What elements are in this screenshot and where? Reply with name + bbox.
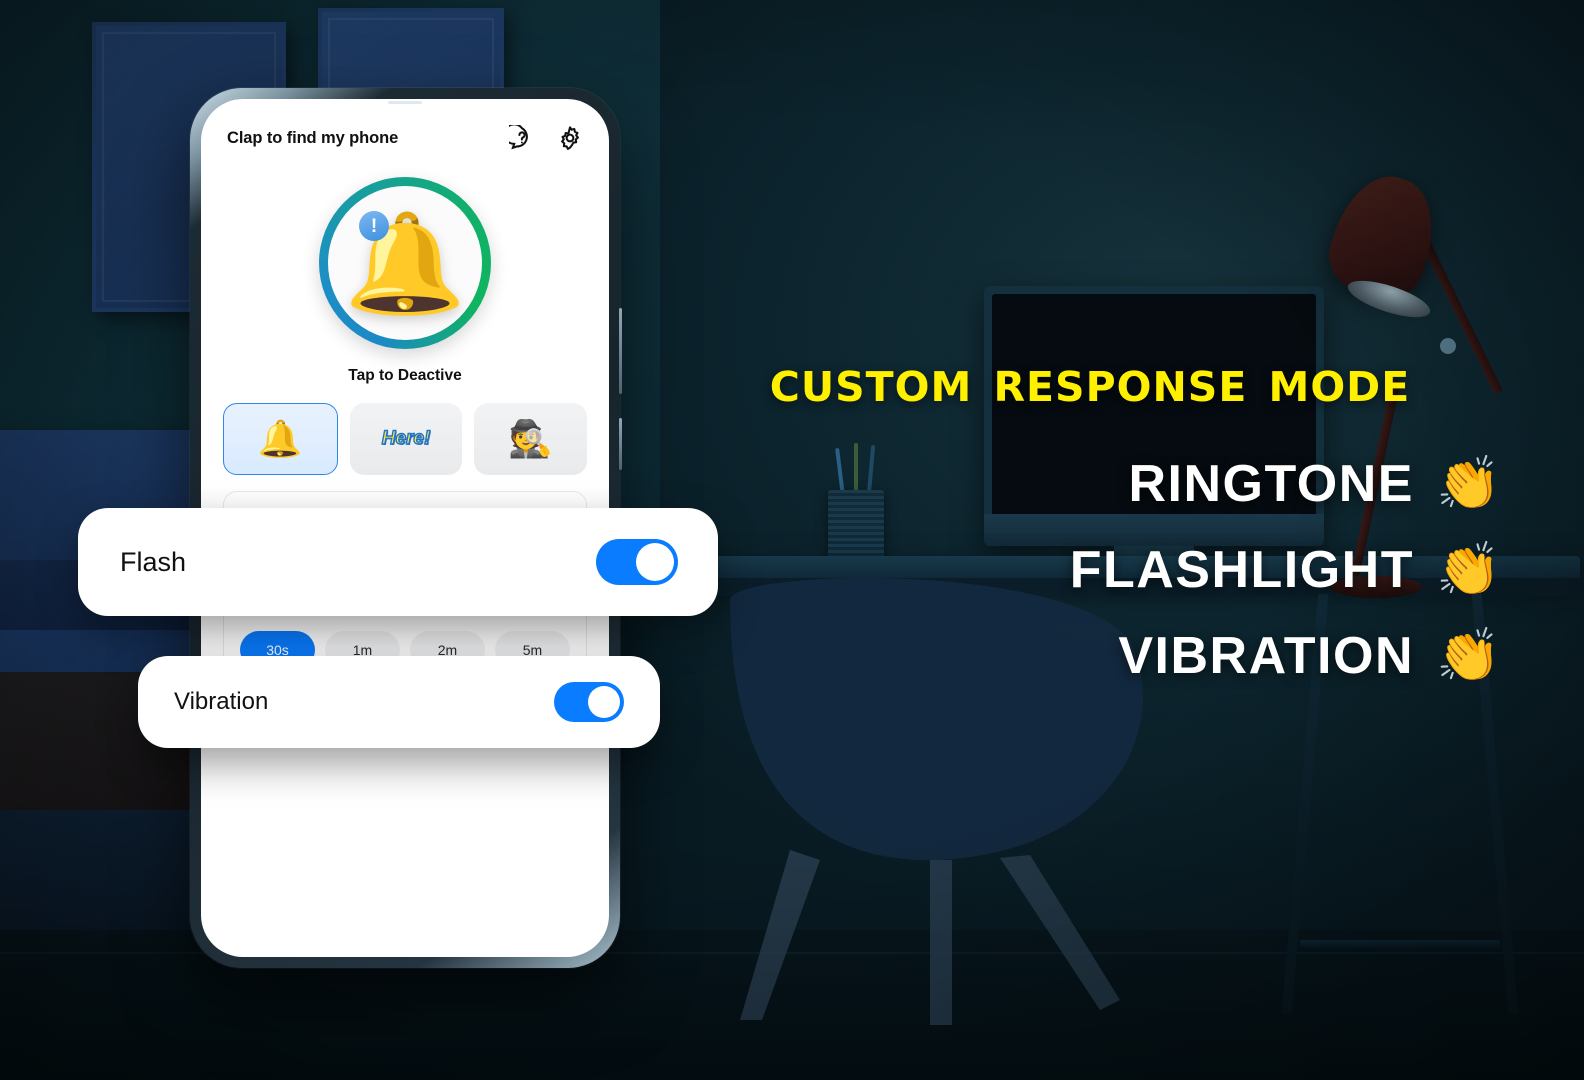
promo-feature-label: VIBRATION	[1118, 626, 1414, 686]
promo-copy: Custom Response Mode RINGTONE 👏 FLASHLIG…	[680, 352, 1500, 712]
floating-card-flash[interactable]: Flash	[78, 508, 718, 616]
alert-badge-icon: !	[359, 211, 389, 241]
app-title: Clap to find my phone	[227, 129, 398, 148]
app-header: Clap to find my phone	[201, 99, 609, 151]
here-mode-label: Here!	[382, 428, 431, 450]
gear-icon[interactable]	[557, 125, 583, 151]
help-icon[interactable]	[509, 125, 535, 151]
clapping-hands-icon: 👏	[1436, 458, 1500, 510]
mode-card-detective[interactable]: 🕵️	[474, 403, 587, 475]
response-mode-row: 🔔 Here! 🕵️	[201, 385, 609, 475]
promo-scene: Clap to find my phone 🔔	[0, 0, 1584, 1080]
desk-leg-brace	[1300, 940, 1500, 948]
promo-feature-flashlight: FLASHLIGHT 👏	[680, 540, 1500, 600]
phone-earpiece	[388, 101, 422, 104]
floating-card-vibration[interactable]: Vibration	[138, 656, 660, 748]
mode-card-bell[interactable]: 🔔	[223, 403, 338, 475]
vibration-toggle[interactable]	[554, 682, 624, 722]
phone-power-button[interactable]	[619, 418, 622, 470]
bell-mode-icon: 🔔	[258, 418, 303, 460]
flash-label: Flash	[120, 547, 186, 578]
promo-feature-label: RINGTONE	[1128, 454, 1414, 514]
clapping-hands-icon: 👏	[1436, 630, 1500, 682]
mode-card-here[interactable]: Here!	[350, 403, 463, 475]
flash-toggle[interactable]	[596, 539, 678, 585]
detective-mode-icon: 🕵️	[508, 418, 553, 460]
promo-feature-ringtone: RINGTONE 👏	[680, 454, 1500, 514]
status-progress-ring: 🔔 !	[319, 177, 491, 349]
tap-to-deactivate-label[interactable]: Tap to Deactive	[201, 367, 609, 385]
header-icon-group	[509, 125, 583, 151]
promo-feature-list: RINGTONE 👏 FLASHLIGHT 👏 VIBRATION 👏	[680, 454, 1500, 686]
vibration-label: Vibration	[174, 688, 268, 716]
phone-volume-button[interactable]	[619, 308, 622, 394]
promo-title: Custom Response Mode	[680, 352, 1500, 410]
promo-feature-vibration: VIBRATION 👏	[680, 626, 1500, 686]
promo-feature-label: FLASHLIGHT	[1070, 540, 1414, 600]
status-ring-wrapper[interactable]: 🔔 !	[201, 177, 609, 349]
clapping-hands-icon: 👏	[1436, 544, 1500, 596]
